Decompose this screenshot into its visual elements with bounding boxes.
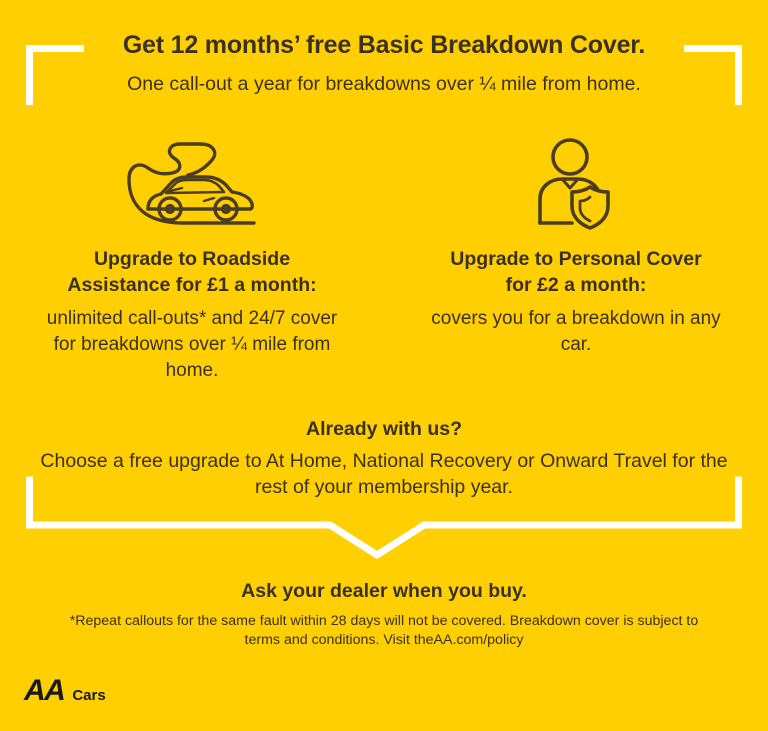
header: Get 12 months’ free Basic Breakdown Cove…: [0, 30, 768, 96]
feature-columns: Upgrade to Roadside Assistance for £1 a …: [0, 132, 768, 384]
aa-logo-mark: AA: [24, 676, 64, 706]
feature-body: unlimited call-outs* and 24/7 cover for …: [18, 306, 366, 384]
feature-title: Upgrade to Roadside Assistance for £1 a …: [18, 247, 366, 299]
person-with-shield-icon: [402, 132, 750, 237]
footer-cta: Ask your dealer when you buy.: [0, 580, 768, 603]
bracket-bottom-with-pointer: [0, 470, 768, 565]
feature-column-personal: Upgrade to Personal Cover for £2 a month…: [384, 132, 768, 358]
car-on-winding-road-icon: [18, 132, 366, 237]
footer-terms: *Repeat callouts for the same fault with…: [0, 612, 768, 650]
feature-body: covers you for a breakdown in any car.: [402, 306, 750, 358]
aa-logo-word: Cars: [72, 688, 105, 703]
page-subtitle: One call-out a year for breakdowns over …: [0, 72, 768, 96]
feature-title: Upgrade to Personal Cover for £2 a month…: [402, 247, 750, 299]
aa-cars-logo: AA Cars: [24, 676, 106, 706]
already-title: Already with us?: [0, 418, 768, 441]
promo-poster: Get 12 months’ free Basic Breakdown Cove…: [0, 0, 768, 731]
feature-column-roadside: Upgrade to Roadside Assistance for £1 a …: [0, 132, 384, 384]
page-title: Get 12 months’ free Basic Breakdown Cove…: [0, 30, 768, 60]
footer: Ask your dealer when you buy. *Repeat ca…: [0, 580, 768, 650]
